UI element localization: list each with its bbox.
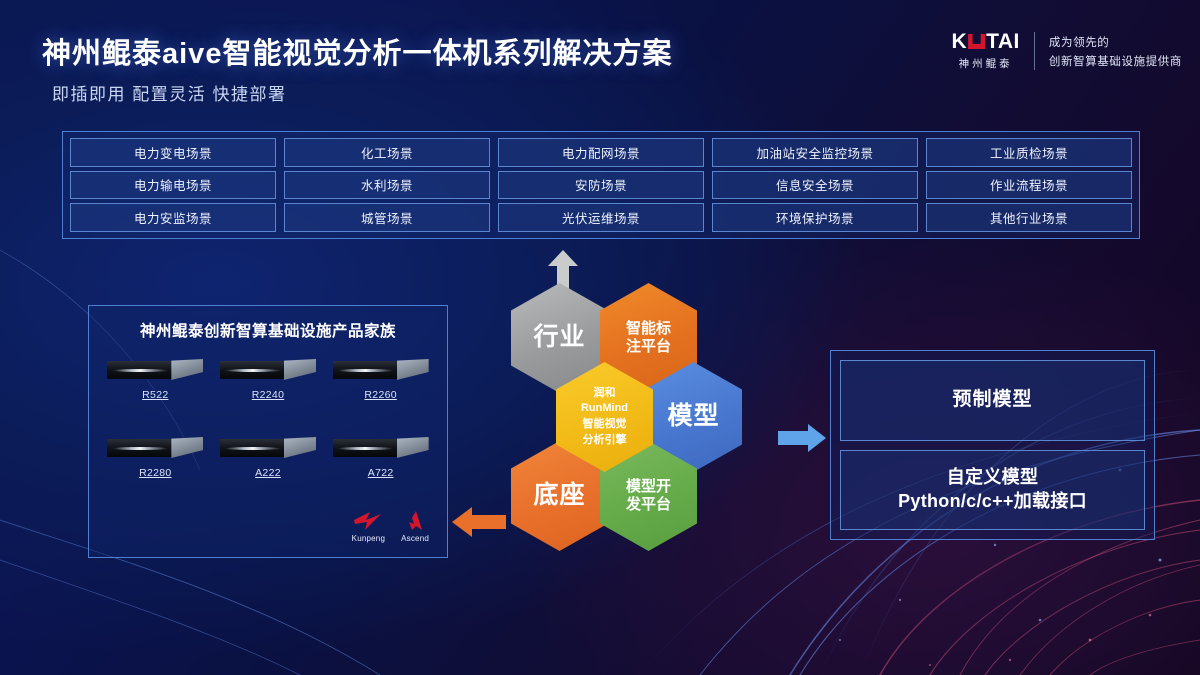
scenario-cell[interactable]: 环境保护场景 xyxy=(712,203,918,232)
scenario-cell[interactable]: 电力变电场景 xyxy=(70,138,276,167)
product-item[interactable]: R522 xyxy=(99,349,212,427)
brand-chinese-name: 神州鲲泰 xyxy=(959,56,1013,71)
server-icon xyxy=(333,357,429,383)
hex-dev-platform-label: 模型开 发平台 xyxy=(626,478,671,513)
brand-tagline: 成为领先的 创新智算基础设施提供商 xyxy=(1035,34,1182,69)
ascend-a-icon xyxy=(404,510,426,532)
kunpeng-logo: Kunpeng xyxy=(352,510,385,543)
scenario-cell[interactable]: 加油站安全监控场景 xyxy=(712,138,918,167)
scenario-cell[interactable]: 电力配网场景 xyxy=(498,138,704,167)
model-panel: 预制模型 自定义模型 Python/c/c++加载接口 xyxy=(830,350,1155,540)
preset-model-box[interactable]: 预制模型 xyxy=(840,360,1145,441)
scenario-cell[interactable]: 作业流程场景 xyxy=(926,171,1132,200)
brand-word-left: K xyxy=(951,31,967,52)
ascend-label: Ascend xyxy=(401,534,429,543)
hex-annotation-platform-label: 智能标 注平台 xyxy=(626,320,671,355)
product-item[interactable]: A222 xyxy=(212,427,325,505)
product-item[interactable]: R2280 xyxy=(99,427,212,505)
custom-model-box[interactable]: 自定义模型 Python/c/c++加载接口 xyxy=(840,450,1145,531)
brand-tagline-line1: 成为领先的 xyxy=(1049,34,1182,50)
brand-word-right: TAI xyxy=(986,31,1020,52)
kunpeng-bird-icon xyxy=(353,510,383,532)
scenario-cell[interactable]: 化工场景 xyxy=(284,138,490,167)
scenario-cell[interactable]: 电力输电场景 xyxy=(70,171,276,200)
scenario-cell[interactable]: 安防场景 xyxy=(498,171,704,200)
product-label: A722 xyxy=(368,467,394,479)
scenario-cell[interactable]: 电力安监场景 xyxy=(70,203,276,232)
brand-logo: K TAI 神州鲲泰 成为领先的 创新智算基础设施提供商 xyxy=(951,26,1182,76)
product-family-title: 神州鲲泰创新智算基础设施产品家族 xyxy=(89,319,447,341)
partner-logos: Kunpeng Ascend xyxy=(352,510,429,543)
server-icon xyxy=(333,435,429,461)
scenario-cell[interactable]: 信息安全场景 xyxy=(712,171,918,200)
hex-base-label: 底座 xyxy=(533,481,585,511)
slide-root: 神州鲲泰aive智能视觉分析一体机系列解决方案 即插即用 配置灵活 快捷部署 K… xyxy=(0,0,1200,675)
kuntai-u-icon xyxy=(968,34,985,49)
kunpeng-label: Kunpeng xyxy=(352,534,385,543)
custom-model-label: 自定义模型 Python/c/c++加载接口 xyxy=(898,466,1087,513)
product-family-panel: 神州鲲泰创新智算基础设施产品家族 R522 R2240 R2260 R2280 … xyxy=(88,305,448,558)
hex-industry-label: 行业 xyxy=(533,323,585,353)
server-icon xyxy=(220,357,316,383)
scenario-cell[interactable]: 水利场景 xyxy=(284,171,490,200)
scenario-grid-panel: 电力变电场景 化工场景 电力配网场景 加油站安全监控场景 工业质检场景 电力输电… xyxy=(62,131,1140,239)
page-subtitle: 即插即用 配置灵活 快捷部署 xyxy=(52,80,286,105)
scenario-cell[interactable]: 其他行业场景 xyxy=(926,203,1132,232)
product-item[interactable]: A722 xyxy=(324,427,437,505)
page-title: 神州鲲泰aive智能视觉分析一体机系列解决方案 xyxy=(42,30,672,72)
server-icon xyxy=(107,435,203,461)
scenario-cell[interactable]: 光伏运维场景 xyxy=(498,203,704,232)
product-label: R2260 xyxy=(364,389,396,401)
brand-separator xyxy=(1034,32,1035,70)
product-label: A222 xyxy=(255,467,281,479)
hexagon-cluster: 行业 智能标 注平台 润和 RunMind 智能视觉 分析引擎 模型 底座 模型… xyxy=(495,283,795,573)
product-label: R2280 xyxy=(139,467,171,479)
hex-engine-label: 润和 RunMind 智能视觉 分析引擎 xyxy=(581,386,628,448)
brand-logo-mark: K TAI 神州鲲泰 xyxy=(951,31,1033,71)
product-label: R2240 xyxy=(252,389,284,401)
product-item[interactable]: R2260 xyxy=(324,349,437,427)
header: 神州鲲泰aive智能视觉分析一体机系列解决方案 即插即用 配置灵活 快捷部署 K… xyxy=(0,0,1200,120)
right-arrow-icon xyxy=(778,423,826,453)
product-family-grid: R522 R2240 R2260 R2280 A222 A722 xyxy=(89,349,447,505)
ascend-logo: Ascend xyxy=(401,510,429,543)
scenario-cell[interactable]: 工业质检场景 xyxy=(926,138,1132,167)
scenario-cell[interactable]: 城管场景 xyxy=(284,203,490,232)
product-label: R522 xyxy=(142,389,168,401)
scenario-grid: 电力变电场景 化工场景 电力配网场景 加油站安全监控场景 工业质检场景 电力输电… xyxy=(70,138,1132,232)
brand-wordmark: K TAI xyxy=(951,31,1019,52)
server-icon xyxy=(107,357,203,383)
server-icon xyxy=(220,435,316,461)
brand-tagline-line2: 创新智算基础设施提供商 xyxy=(1049,53,1182,69)
left-arrow-icon xyxy=(452,505,506,539)
product-item[interactable]: R2240 xyxy=(212,349,325,427)
hex-model-label: 模型 xyxy=(667,402,719,432)
